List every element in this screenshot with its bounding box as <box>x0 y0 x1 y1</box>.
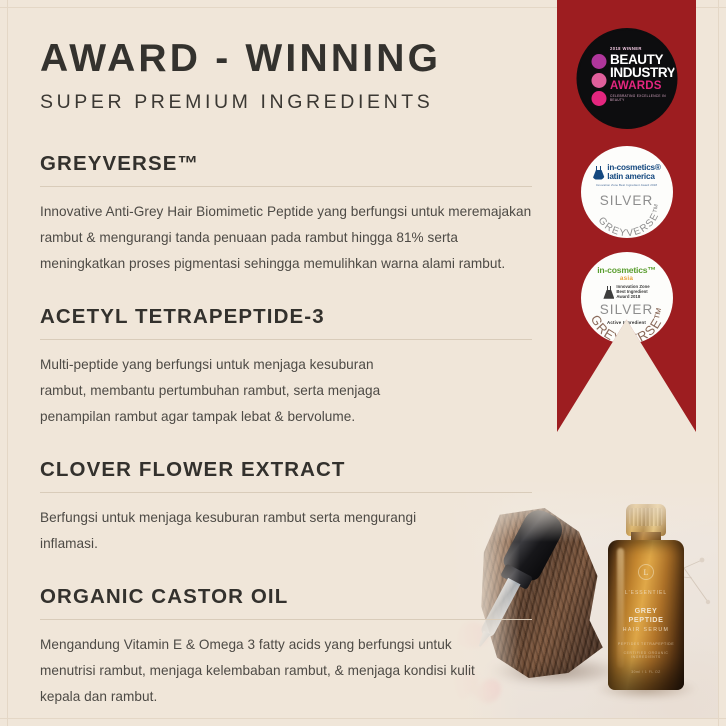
ingredient-description: Innovative Anti-Grey Hair Biomimetic Pep… <box>40 199 532 277</box>
poster-canvas: L L'ESSENTIEL GREY PEPTIDE HAIR SERUM PE… <box>0 0 726 726</box>
ingredient-description-text: Mengandung Vitamin E & Omega 3 fatty aci… <box>40 632 478 710</box>
ingredient-section-clover-flower-extract: CLOVER FLOWER EXTRACT Berfungsi untuk me… <box>40 458 532 557</box>
brand-emblem-icon: L <box>638 564 654 580</box>
ingredient-section-acetyl-tetrapeptide-3: ACETYL TETRAPEPTIDE-3 Multi-peptide yang… <box>40 305 532 430</box>
ingredient-section-greyverse: GREYVERSE™ Innovative Anti-Grey Hair Bio… <box>40 152 532 277</box>
ingredient-description-text: Multi-peptide yang berfungsi untuk menja… <box>40 352 412 430</box>
badge-beauty-industry-awards: 2018 WINNER BEAUTY INDUSTRY AWARDS CELEB… <box>578 30 675 127</box>
bottle-product-name: GREY PEPTIDE <box>616 606 676 624</box>
heading-divider <box>40 492 532 493</box>
ingredient-description: Berfungsi untuk menjaga kesuburan rambut… <box>40 505 532 557</box>
ingredient-heading: ORGANIC CASTOR OIL <box>40 585 532 609</box>
heading-divider <box>40 619 532 620</box>
ingredient-description: Mengandung Vitamin E & Omega 3 fatty aci… <box>40 632 532 710</box>
bottle-label: L'ESSENTIEL GREY PEPTIDE HAIR SERUM PEPT… <box>616 590 676 674</box>
badge-in-cosmetics-latin-america: in-cosmetics® latin america Innovation Z… <box>581 146 673 238</box>
svg-text:GREYVERSE™: GREYVERSE™ <box>595 202 664 238</box>
heading-divider <box>40 186 532 187</box>
frame-line-right <box>718 0 719 726</box>
ingredient-heading: GREYVERSE™ <box>40 152 532 176</box>
ingredient-description-text: Innovative Anti-Grey Hair Biomimetic Pep… <box>40 199 532 277</box>
bottle-product-type: HAIR SERUM <box>616 627 676 633</box>
ingredient-heading: ACETYL TETRAPEPTIDE-3 <box>40 305 532 329</box>
bottle-fine-print-2: CERTIFIED ORGANIC INGREDIENTS <box>616 651 676 659</box>
page-subtitle: SUPER PREMIUM INGREDIENTS <box>40 91 532 114</box>
ingredient-description-text: Berfungsi untuk menjaga kesuburan rambut… <box>40 505 420 557</box>
badge-arc-text-greyverse: GREYVERSE™ <box>581 146 673 238</box>
bottle-fine-print-1: PEPTIDES TETRAPEPTIDE <box>616 642 676 646</box>
content-column: AWARD - WINNING SUPER PREMIUM INGREDIENT… <box>40 36 532 710</box>
beauty-awards-text: 2018 WINNER BEAUTY INDUSTRY AWARDS CELEB… <box>610 46 672 102</box>
badge-in-cosmetics-asia: in-cosmetics™ asia Innovation Zone Best … <box>581 252 673 344</box>
award-ribbon: 2018 WINNER BEAUTY INDUSTRY AWARDS CELEB… <box>557 0 696 432</box>
badge-line-industry: INDUSTRY <box>610 66 672 79</box>
bottle-brand: L'ESSENTIEL <box>616 590 676 596</box>
heading-divider <box>40 339 532 340</box>
badge-footnote: CELEBRATING EXCELLENCE IN BEAUTY <box>610 94 672 102</box>
frame-line-left <box>7 0 8 726</box>
badge-year: 2018 WINNER <box>610 46 672 51</box>
badge-arc-text-greyverse: GREYVERSE™ <box>581 252 673 344</box>
svg-text:GREYVERSE™: GREYVERSE™ <box>587 305 668 344</box>
beauty-awards-dots-icon <box>591 54 610 106</box>
arc-label: GREYVERSE™ <box>587 305 668 344</box>
frame-line-bottom <box>0 718 726 719</box>
brand-emblem-letter: L <box>639 568 653 577</box>
ingredient-section-organic-castor-oil: ORGANIC CASTOR OIL Mengandung Vitamin E … <box>40 585 532 710</box>
ingredient-heading: CLOVER FLOWER EXTRACT <box>40 458 532 482</box>
arc-label: GREYVERSE™ <box>595 202 664 238</box>
bottle-volume: 30ml / 1 FL OZ <box>616 670 676 674</box>
ingredient-description: Multi-peptide yang berfungsi untuk menja… <box>40 352 532 430</box>
page-title: AWARD - WINNING <box>40 36 532 82</box>
badge-line-awards: AWARDS <box>610 79 672 93</box>
